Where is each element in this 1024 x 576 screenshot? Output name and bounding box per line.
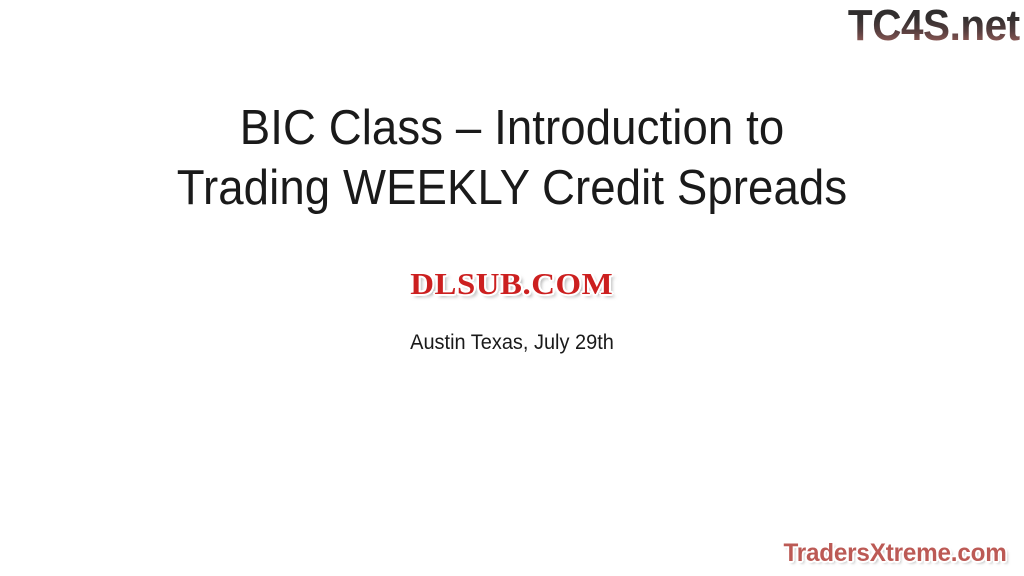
page-title: BIC Class – Introduction to Trading WEEK… [0, 98, 1024, 218]
subtitle-container: Austin Texas, July 29th [0, 329, 1024, 357]
tradersxtreme-watermark-container: TradersXtreme.com [780, 536, 1010, 570]
presentation-slide: TC4S.net BIC Class – Introduction to Tra… [0, 0, 1024, 576]
dlsub-watermark: DLSUB.COM [411, 266, 614, 302]
title-line-1: BIC Class – Introduction to [36, 98, 988, 158]
subtitle-location-date: Austin Texas, July 29th [26, 329, 999, 357]
title-line-2: Trading WEEKLY Credit Spreads [36, 158, 988, 218]
tc4s-logo: TC4S.net [848, 2, 1020, 50]
tradersxtreme-watermark: TradersXtreme.com [783, 536, 1006, 570]
dlsub-watermark-container: DLSUB.COM [0, 266, 1024, 302]
